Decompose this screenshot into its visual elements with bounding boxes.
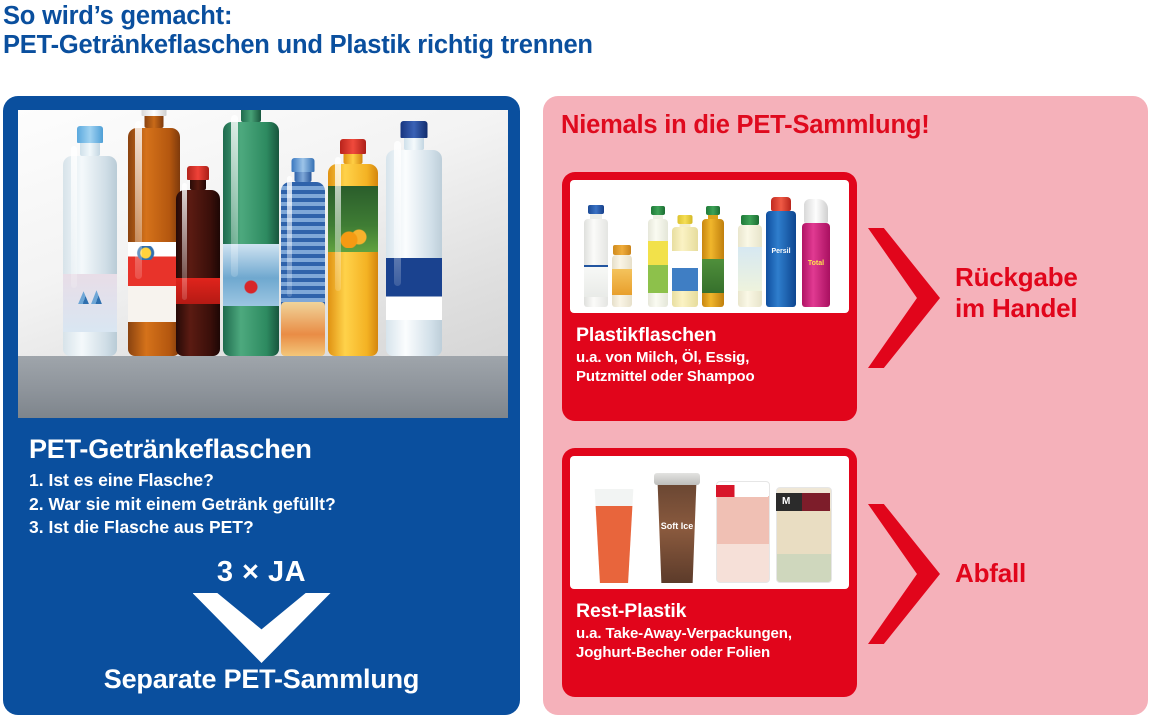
product-cap bbox=[771, 197, 791, 211]
title-line-2: PET-Getränkeflaschen und Plastik richtig… bbox=[3, 31, 903, 60]
blue-panel-footer: Separate PET-Sammlung bbox=[3, 664, 520, 695]
bottle-highlight bbox=[335, 157, 341, 291]
bottle-water-clear bbox=[63, 128, 117, 356]
product-cap bbox=[651, 206, 665, 215]
bottle-cap bbox=[187, 166, 209, 180]
pink-panel-heading: Niemals in die PET-Sammlung! bbox=[561, 111, 929, 140]
card-subtitle: u.a. Take-Away-Verpackungen, Joghurt-Bec… bbox=[576, 624, 792, 662]
product-brand-persil: Persil bbox=[766, 248, 796, 255]
chevron-right-icon bbox=[868, 228, 940, 368]
arrow-label-line-1: Abfall bbox=[955, 558, 1026, 589]
bottle-water-blue-label bbox=[386, 122, 442, 356]
bottle-cap bbox=[292, 158, 315, 172]
bottle-blue-ribbed bbox=[281, 160, 325, 356]
product-persil-detergent: Persil bbox=[766, 197, 796, 307]
card-subtitle-line-1: u.a. Take-Away-Verpackungen, bbox=[576, 624, 792, 643]
arrow-label-line-1: Rückgabe bbox=[955, 262, 1078, 293]
product-label bbox=[584, 265, 608, 297]
chevron-right-icon bbox=[868, 504, 940, 644]
product-cooking-oil bbox=[702, 207, 724, 307]
chevron-down-icon bbox=[193, 593, 331, 663]
product-brand-soft-ice: Soft Ice bbox=[654, 521, 700, 531]
infographic-root: So wird’s gemacht: PET-Getränkeflaschen … bbox=[0, 0, 1155, 720]
question-1: 1. Ist es eine Flasche? bbox=[29, 469, 336, 493]
bottle-orange-juice bbox=[328, 140, 378, 356]
product-cap bbox=[706, 206, 720, 215]
arrow-label-waste: Abfall bbox=[955, 558, 1026, 589]
bottle-cap bbox=[340, 139, 366, 154]
verdict-three-times-yes: 3 × JA bbox=[3, 556, 520, 589]
bottle-highlight bbox=[394, 141, 401, 286]
product-cap bbox=[613, 245, 631, 255]
product-vinegar-thomy bbox=[648, 207, 668, 307]
bottle-cola bbox=[176, 168, 220, 356]
card-rest-plastic: Soft Ice M Rest-Plastik u.a. Take-Away-V… bbox=[562, 448, 857, 697]
bottle-cap bbox=[401, 121, 428, 138]
bottle-highlight bbox=[71, 146, 77, 287]
bottle-highlight bbox=[231, 115, 238, 277]
card-title: Plastikflaschen bbox=[576, 324, 717, 347]
product-sunflower-oil bbox=[672, 215, 698, 307]
bottle-highlight bbox=[182, 183, 187, 300]
arrow-label-return: Rückgabe im Handel bbox=[955, 262, 1078, 324]
card-subtitle: u.a. von Milch, Öl, Essig, Putzmittel od… bbox=[576, 348, 755, 386]
page-title: So wird’s gemacht: PET-Getränkeflaschen … bbox=[3, 2, 903, 60]
bottle-cap bbox=[77, 126, 103, 143]
product-meat-pack: M bbox=[776, 489, 830, 583]
product-total-spray: Total bbox=[802, 199, 830, 307]
product-body bbox=[592, 489, 636, 583]
product-spray-trigger bbox=[804, 199, 828, 223]
card-subtitle-line-1: u.a. von Milch, Öl, Essig, bbox=[576, 348, 755, 367]
product-body bbox=[766, 211, 796, 307]
product-label bbox=[702, 259, 724, 293]
product-milk-bottle bbox=[584, 205, 608, 307]
pet-collection-panel: PET-Getränkeflaschen 1. Ist es eine Flas… bbox=[3, 96, 520, 715]
never-in-pet-panel: Niemals in die PET-Sammlung! bbox=[543, 96, 1148, 715]
bottle-brown-drink bbox=[128, 110, 180, 356]
bottle-highlight bbox=[135, 121, 141, 279]
product-cap bbox=[741, 215, 759, 225]
product-cleaner-bottle bbox=[738, 215, 762, 307]
blue-panel-heading: PET-Getränkeflaschen bbox=[29, 434, 312, 465]
product-drink-cup bbox=[592, 489, 636, 583]
pet-bottles-photo bbox=[18, 110, 508, 418]
card-title: Rest-Plastik bbox=[576, 600, 686, 623]
card-subtitle-line-2: Putzmittel oder Shampoo bbox=[576, 367, 755, 386]
bottle-cap bbox=[142, 110, 167, 116]
blue-panel-questions: 1. Ist es eine Flasche? 2. War sie mit e… bbox=[29, 469, 336, 540]
product-lid bbox=[654, 473, 700, 485]
bottle-label-star-icon bbox=[223, 280, 279, 294]
product-cap bbox=[588, 205, 604, 214]
product-soft-ice-tub: Soft Ice bbox=[654, 473, 700, 583]
bottle-label-snack bbox=[281, 302, 325, 356]
product-label bbox=[612, 269, 632, 295]
product-label-m bbox=[672, 251, 698, 291]
product-cap bbox=[678, 215, 693, 224]
plastic-bottles-photo: Persil Total bbox=[570, 180, 849, 313]
product-cold-cuts-pack bbox=[716, 483, 768, 583]
bottle-water-green bbox=[223, 110, 279, 356]
product-label bbox=[738, 247, 762, 291]
photo-bottles-group bbox=[18, 110, 508, 418]
product-label-thomy bbox=[648, 241, 668, 293]
product-body bbox=[654, 485, 700, 583]
product-label-banner bbox=[716, 485, 768, 497]
bottle-neck bbox=[241, 110, 261, 122]
product-brand-m: M bbox=[776, 496, 836, 507]
card-subtitle-line-2: Joghurt-Becher oder Folien bbox=[576, 643, 792, 662]
rest-plastic-photo: Soft Ice M bbox=[570, 456, 849, 589]
product-coffee-creamer bbox=[612, 245, 632, 307]
product-brand-total: Total bbox=[802, 260, 830, 267]
question-2: 2. War sie mit einem Getränk gefüllt? bbox=[29, 493, 336, 517]
title-line-1: So wird’s gemacht: bbox=[3, 2, 232, 30]
arrow-label-line-2: im Handel bbox=[955, 293, 1078, 324]
bottle-highlight bbox=[287, 176, 292, 298]
question-3: 3. Ist die Flasche aus PET? bbox=[29, 516, 336, 540]
card-plastic-bottles: Persil Total Plastikflaschen u.a. von Mi… bbox=[562, 172, 857, 421]
